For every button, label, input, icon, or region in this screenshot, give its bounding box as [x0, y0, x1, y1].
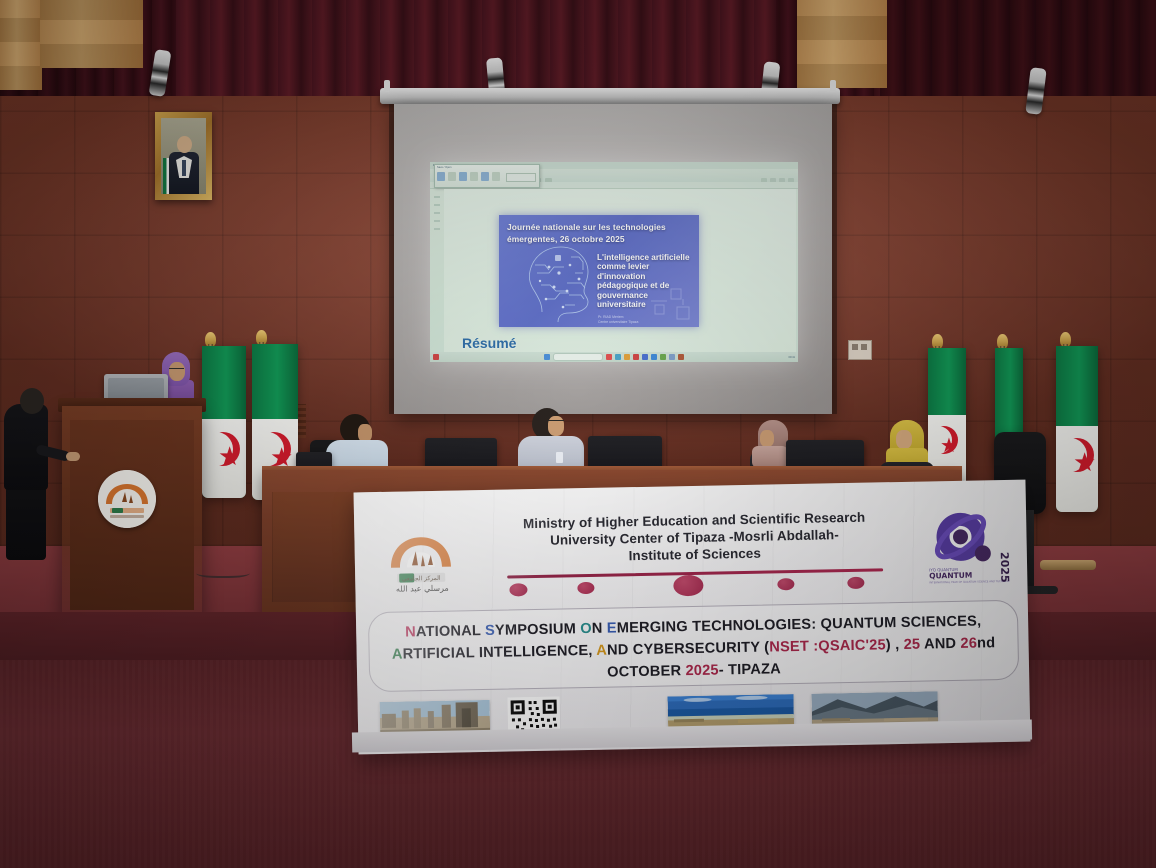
algerian-flag: ★ — [202, 346, 246, 498]
taskbar-search-input[interactable] — [553, 353, 603, 361]
app-icon[interactable] — [615, 354, 621, 360]
presentation-title-slide: Journée nationale sur les technologies é… — [499, 215, 699, 327]
dialog-title: Save / Open — [437, 166, 451, 169]
ai-brain-circuit-graphic — [521, 243, 597, 325]
official-framed-portrait — [155, 112, 212, 200]
windows-taskbar: 09:41 — [430, 352, 798, 362]
slide-affiliation: Centre universitaire Tipaza — [598, 320, 638, 324]
projector-screen-housing — [380, 88, 840, 104]
algerian-flag: ★ — [1056, 346, 1098, 512]
panelist-right-1-hijab — [752, 446, 788, 468]
document-heading: Résumé — [462, 335, 516, 351]
slide-author-name: Pr. RIAD Meriem — [598, 315, 623, 319]
folder-icon[interactable] — [624, 354, 630, 360]
app-icon[interactable] — [678, 354, 684, 360]
wood-panel-upper-left-2 — [40, 0, 143, 68]
floor-cable — [196, 566, 250, 578]
logo-icon — [433, 354, 439, 360]
word-dialog-popup[interactable]: Save / Open — [434, 164, 540, 188]
banner-lighting — [354, 480, 1031, 755]
walking-attendee-legs — [6, 482, 46, 560]
event-banner: المركز الجامعي مرسلي عبد الله Ministry o… — [354, 480, 1031, 755]
taskbar-left — [433, 354, 439, 360]
panelist-right-2-face — [896, 430, 912, 449]
app-icon[interactable] — [642, 354, 648, 360]
glasses-icon — [169, 368, 184, 373]
app-icon[interactable] — [660, 354, 666, 360]
panelist-right-1-face — [760, 430, 774, 447]
panelist-center-face — [548, 416, 564, 436]
app-icon[interactable] — [651, 354, 657, 360]
slide-title-line1: Journée nationale sur les technologies é… — [507, 221, 667, 245]
name-badge — [556, 452, 563, 463]
taskbar-clock: 09:41 — [789, 356, 796, 359]
screen-edge-right — [832, 104, 837, 414]
document-left-nav[interactable] — [432, 190, 442, 340]
podium-seal-logo — [98, 470, 156, 528]
app-icon[interactable] — [669, 354, 675, 360]
wood-panel-upper-left — [0, 0, 42, 90]
app-icon[interactable] — [606, 354, 612, 360]
slide-author: Pr. RIAD Meriem Centre universitaire Tip… — [598, 315, 638, 324]
wood-panel-upper-center — [797, 0, 887, 88]
wall-socket-plate — [848, 340, 872, 360]
walking-attendee-head — [20, 388, 44, 414]
walking-attendee-hand — [66, 452, 80, 461]
start-icon[interactable] — [544, 354, 550, 360]
stage-curtain-panel-left — [176, 0, 776, 100]
projected-word-window: Document - Word Save / Open Journée nati… — [430, 162, 798, 362]
glasses-icon — [548, 420, 564, 425]
slide-title-text-1: Journée nationale sur les technologies — [507, 222, 666, 232]
dialog-icon-row[interactable] — [437, 172, 500, 181]
slide-decoration-icon — [649, 287, 695, 323]
dialog-confirm-button[interactable] — [506, 173, 536, 182]
app-icon[interactable] — [633, 354, 639, 360]
stage-curtain-panel-right — [880, 0, 1156, 108]
floor-lamp-base — [1040, 560, 1096, 570]
conference-photo-scene: Document - Word Save / Open Journée nati… — [0, 0, 1156, 868]
document-page: Journée nationale sur les technologies é… — [444, 189, 796, 352]
